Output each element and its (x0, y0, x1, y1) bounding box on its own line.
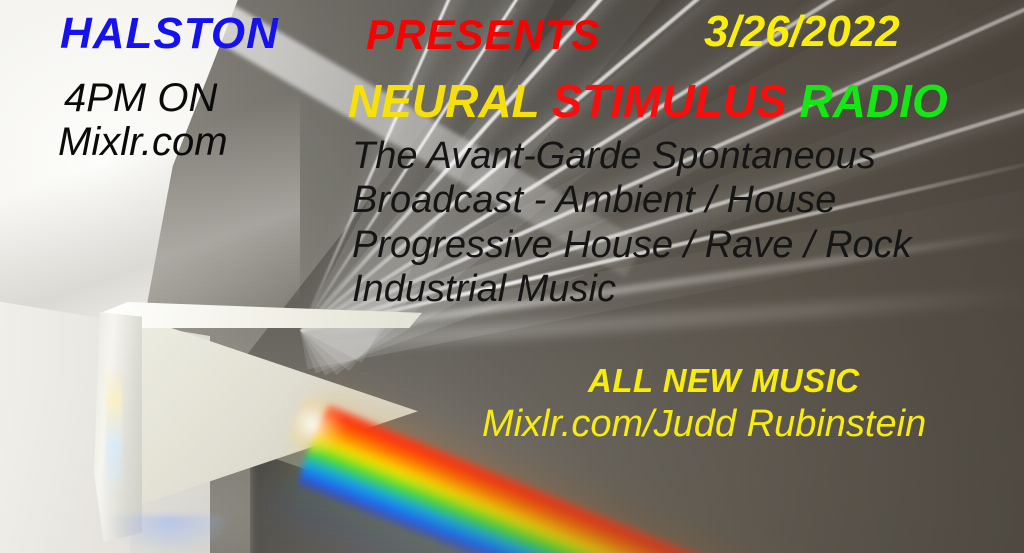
description-line: Industrial Music (352, 267, 912, 311)
title-word-neural: NEURAL (348, 75, 539, 127)
show-title: NEURAL STIMULUS RADIO (348, 78, 948, 124)
description-line: The Avant-Garde Spontaneous (352, 134, 912, 178)
show-description: The Avant-Garde Spontaneous Broadcast - … (352, 134, 912, 312)
broadcast-platform: Mixlr.com (58, 122, 228, 162)
title-word-radio: RADIO (800, 75, 948, 127)
station-name: HALSTON (60, 12, 279, 56)
broadcast-time: 4PM ON (64, 78, 217, 118)
title-word-stimulus: STIMULUS (552, 75, 787, 127)
all-new-music-tagline: ALL NEW MUSIC (588, 364, 860, 397)
mixlr-handle-link[interactable]: Mixlr.com/Judd Rubinstein (482, 405, 926, 443)
description-line: Broadcast - Ambient / House (352, 178, 912, 222)
event-date: 3/26/2022 (704, 10, 900, 54)
presents-label: PRESENTS (366, 14, 600, 56)
event-flyer: HALSTON PRESENTS 3/26/2022 4PM ON Mixlr.… (0, 0, 1024, 553)
description-line: Progressive House / Rave / Rock (352, 223, 912, 267)
